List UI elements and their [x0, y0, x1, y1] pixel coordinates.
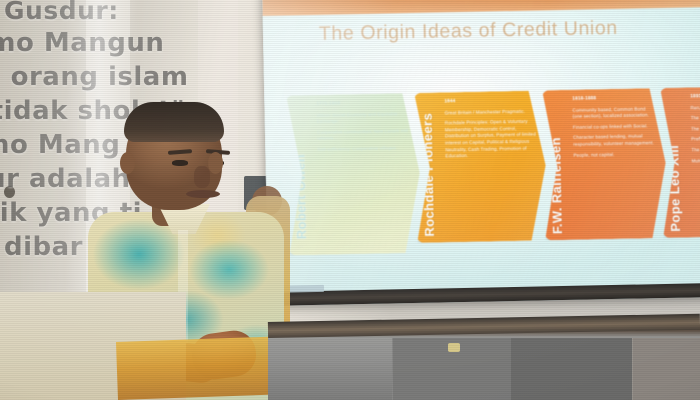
card-year: 1771-1858 [316, 100, 409, 108]
projection-screen: The Origin Ideas of Credit Union Robert … [262, 0, 700, 306]
table-panel [632, 338, 700, 400]
card-bullet: Vision: Social Economy and Equitable Exc… [317, 111, 410, 126]
slide-card-fw-raiffeisen: F.W. Raiffeisen 1818-1888 Community base… [542, 88, 667, 240]
card-bullet: Preferential option for the poor. [691, 135, 700, 143]
slide-card-pope-leo-xiii: Pope Leo XIII 1891 Rerum Novarum encycli… [660, 86, 700, 238]
door-knob [4, 186, 15, 198]
card-body: 1891 Rerum Novarum encyclical. The digni… [690, 93, 700, 232]
card-body: 1771-1858 Vision: Social Economy and Equ… [316, 100, 412, 249]
card-bullet: People, not capital. [573, 151, 656, 159]
card-year: 1818-1888 [572, 95, 655, 103]
speaker-ear-right [208, 152, 223, 174]
card-bullet: Rerum Novarum encyclical. [690, 103, 700, 111]
card-bullet: The principle of subsidiarity. [691, 146, 700, 154]
speaker-mouth [186, 190, 220, 198]
card-bullet: Great Britain / Manchester Pragmatic. [444, 108, 535, 116]
card-label: Pope Leo XIII [665, 93, 690, 231]
card-bullet: The dignity of labour. [691, 114, 700, 122]
card-bullet: Mutual aid societies encouraged. [691, 156, 700, 164]
speaker-eye-left [172, 160, 188, 166]
slide-card-robert-owen: Robert Owen 1771-1858 Vision: Social Eco… [286, 93, 421, 256]
speaker-ear-left [120, 152, 135, 174]
card-bullet: Self-sufficiency; Cooperative villages. [317, 145, 410, 153]
card-bullet: Character based lending, mutual responsi… [573, 133, 656, 148]
speaker-nose [194, 166, 210, 188]
card-label: Rochdale Pioneers [419, 98, 444, 236]
speaker-eyebrow-left [168, 149, 192, 155]
gold-foreground-object [116, 336, 290, 400]
card-label: Robert Owen [291, 101, 316, 239]
photo-scene: Gusdur: omo Mangun ah orang islam g tida… [0, 0, 700, 400]
card-year: 1844 [444, 98, 535, 106]
slide-card-rochdale-pioneers: Rochdale Pioneers 1844 Great Britain / M… [414, 90, 547, 243]
card-bullet: Community based, Common Bond (one sectio… [572, 106, 655, 121]
card-year: 1891 [690, 93, 700, 101]
table-knob [448, 343, 460, 352]
card-bullet: Cooperative communities; New Lanark mill… [317, 128, 410, 143]
card-bullet: Rochdale Principles: Open & Voluntary Me… [445, 119, 537, 160]
card-label: F.W. Raiffeisen [547, 96, 572, 234]
card-body: 1818-1888 Community based, Common Bond (… [572, 95, 658, 234]
speaker-hair [124, 102, 224, 142]
card-bullet: The right of workers to association. [691, 125, 700, 133]
table-panel [510, 338, 633, 400]
card-body: 1844 Great Britain / Manchester Pragmati… [444, 98, 538, 237]
card-bullet: Financial co-ops linked with Social. [573, 123, 656, 131]
slide-card-row: Robert Owen 1771-1858 Vision: Social Eco… [286, 87, 700, 256]
